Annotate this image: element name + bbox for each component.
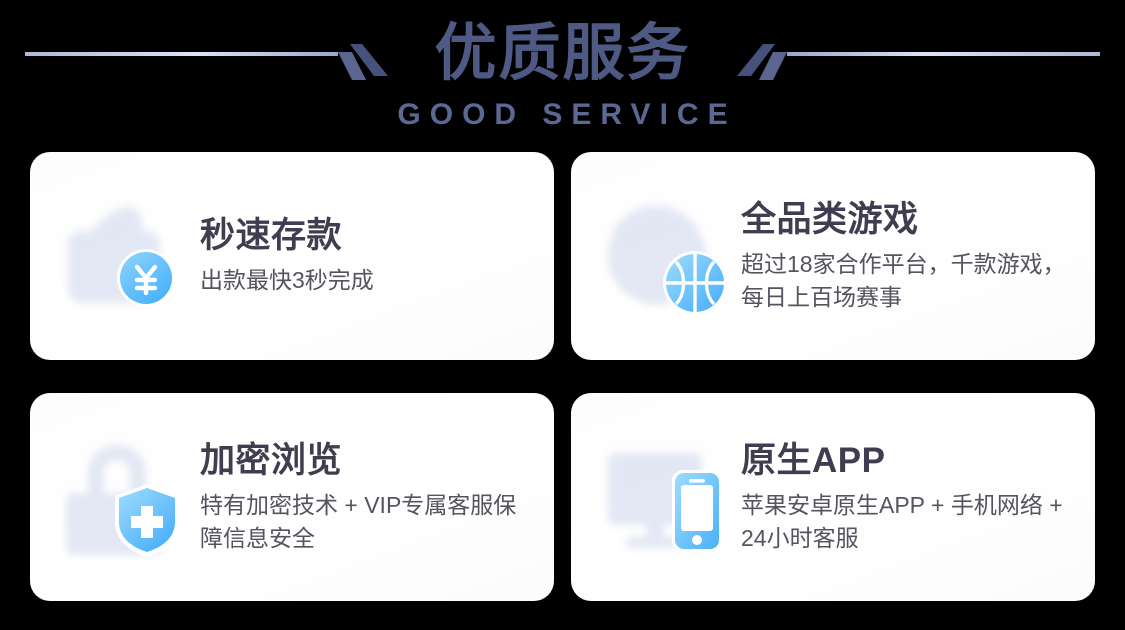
card-description: 出款最快3秒完成: [200, 264, 374, 297]
card-title: 秒速存款: [200, 215, 374, 257]
service-card-encryption[interactable]: 加密浏览 特有加密技术 + VIP专属客服保障信息安全: [30, 393, 554, 601]
monitor-phone-icon: [601, 433, 729, 561]
service-card-native-app[interactable]: 原生APP 苹果安卓原生APP + 手机网络 + 24小时客服: [571, 393, 1095, 601]
lock-shield-icon: [60, 433, 188, 561]
page-title: 优质服务: [0, 0, 1125, 94]
page-subtitle: GOOD SERVICE: [0, 94, 1125, 132]
service-card-grid: 秒速存款 出款最快3秒完成: [30, 152, 1095, 601]
soccer-basketball-icon: [601, 192, 729, 320]
service-card-deposit[interactable]: 秒速存款 出款最快3秒完成: [30, 152, 554, 360]
card-description: 特有加密技术 + VIP专属客服保障信息安全: [200, 489, 530, 555]
service-card-games[interactable]: 全品类游戏 超过18家合作平台，千款游戏，每日上百场赛事: [571, 152, 1095, 360]
card-description: 超过18家合作平台，千款游戏，每日上百场赛事: [741, 248, 1071, 314]
card-title: 加密浏览: [200, 440, 530, 482]
card-title: 全品类游戏: [741, 199, 1071, 241]
card-description: 苹果安卓原生APP + 手机网络 + 24小时客服: [741, 489, 1071, 555]
card-title: 原生APP: [741, 440, 1071, 482]
page-header: 优质服务 GOOD SERVICE: [0, 0, 1125, 148]
wallet-icon: [60, 192, 188, 320]
